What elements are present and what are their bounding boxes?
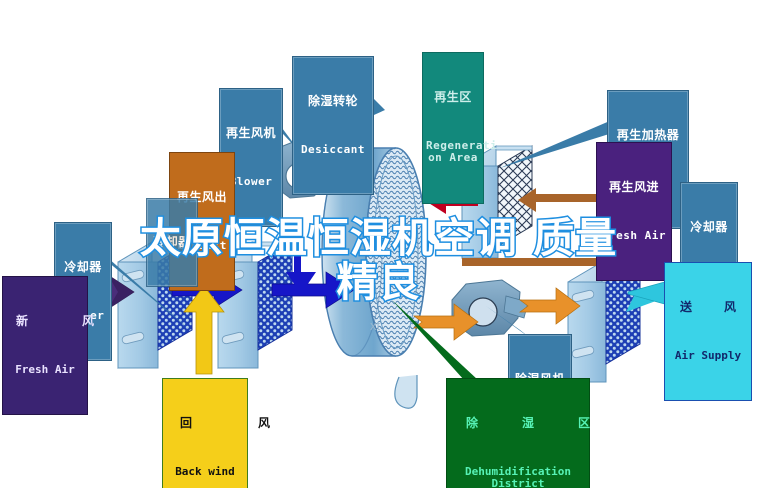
label-fresh-air-en: Fresh Air: [6, 364, 84, 376]
label-dehumidification-district-cn: 除 湿 区: [450, 417, 586, 430]
label-regen-heater-cn: 再生加热器: [611, 129, 685, 142]
dehumidifier-diagram: xt: [0, 0, 757, 488]
label-regeneration-area-cn: 再生区: [426, 91, 480, 104]
label-air-supply-en: Air Supply: [668, 350, 748, 362]
label-regen-blower-cn: 再生风机: [223, 127, 279, 140]
label-desiccant-rotor[interactable]: 除湿转轮 Desiccant: [292, 56, 374, 195]
label-regen-fresh-air-en: Fresh Air: [600, 230, 668, 242]
label-regeneration-area-en: Regenerati on Area: [426, 140, 480, 165]
label-dehumidification-district[interactable]: 除 湿 区 Dehumidification District: [446, 378, 590, 488]
label-desiccant-rotor-cn: 除湿转轮: [296, 95, 370, 108]
label-cooler-left-cn: 冷却器: [58, 261, 108, 274]
label-back-wind[interactable]: 回 风 Back wind: [162, 378, 248, 488]
label-back-wind-cn: 回 风: [166, 417, 244, 430]
label-regen-fresh-air[interactable]: 再生风进 Fresh Air: [596, 142, 672, 281]
label-fresh-air-cn: 新 风: [6, 315, 84, 328]
label-desiccant-rotor-en: Desiccant: [296, 144, 370, 156]
label-cooler-mid-cn: 冷却器: [150, 236, 194, 249]
label-dehumidification-district-en: Dehumidification District: [450, 466, 586, 488]
label-air-supply-cn: 送 风: [668, 301, 748, 314]
rotor-faint-text: xt: [370, 318, 381, 333]
label-cooler-right-cn: 冷却器: [684, 221, 734, 234]
label-air-supply[interactable]: 送 风 Air Supply: [664, 262, 752, 401]
label-regeneration-area[interactable]: 再生区 Regenerati on Area: [422, 52, 484, 204]
label-regen-fresh-air-cn: 再生风进: [600, 181, 668, 194]
label-fresh-air[interactable]: 新 风 Fresh Air: [2, 276, 88, 415]
label-cooler-mid[interactable]: 冷却器: [146, 198, 198, 287]
label-back-wind-en: Back wind: [166, 466, 244, 478]
